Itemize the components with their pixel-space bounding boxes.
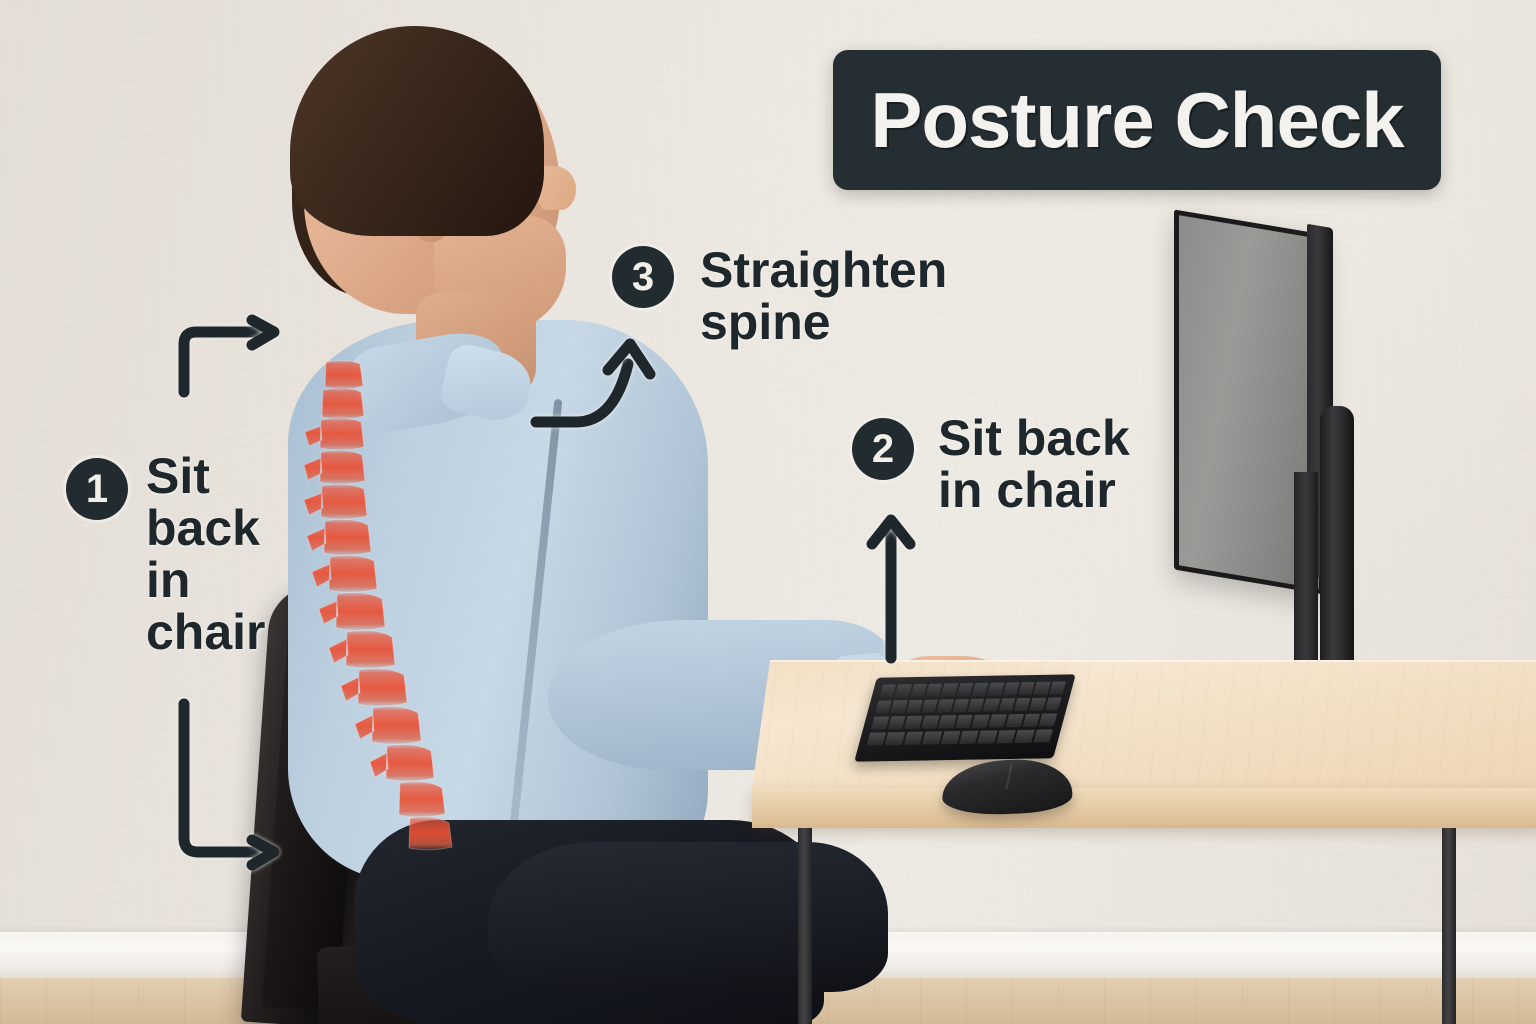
callout-1-text: Sit back in chair (146, 450, 266, 658)
elbow-arrow-up-right-icon (170, 320, 300, 400)
desk-leg (1442, 828, 1456, 1024)
callout-number-3: 3 (612, 246, 674, 308)
desk-leg (798, 828, 812, 1024)
title-badge: Posture Check (833, 50, 1441, 190)
posture-check-infographic: Posture Check 1 Sit back in chair 2 Sit … (0, 0, 1536, 1024)
callout-1-number-label: 1 (86, 467, 108, 512)
arrow-up-icon (858, 506, 928, 666)
callout-3-number-label: 3 (632, 255, 654, 300)
callout-number-2: 2 (852, 418, 914, 480)
hair (290, 26, 544, 236)
callout-3-text: Straighten spine (700, 244, 947, 348)
keyboard-keys (867, 681, 1066, 745)
desk-edge (752, 788, 1536, 828)
page-title: Posture Check (870, 75, 1403, 166)
callout-2-text: Sit back in chair (938, 412, 1130, 516)
keyboard[interactable] (854, 674, 1076, 761)
curved-arrow-up-right-icon (528, 318, 678, 434)
callout-2-number-label: 2 (872, 427, 894, 472)
callout-number-1: 1 (66, 458, 128, 520)
elbow-arrow-down-right-icon (170, 700, 300, 870)
